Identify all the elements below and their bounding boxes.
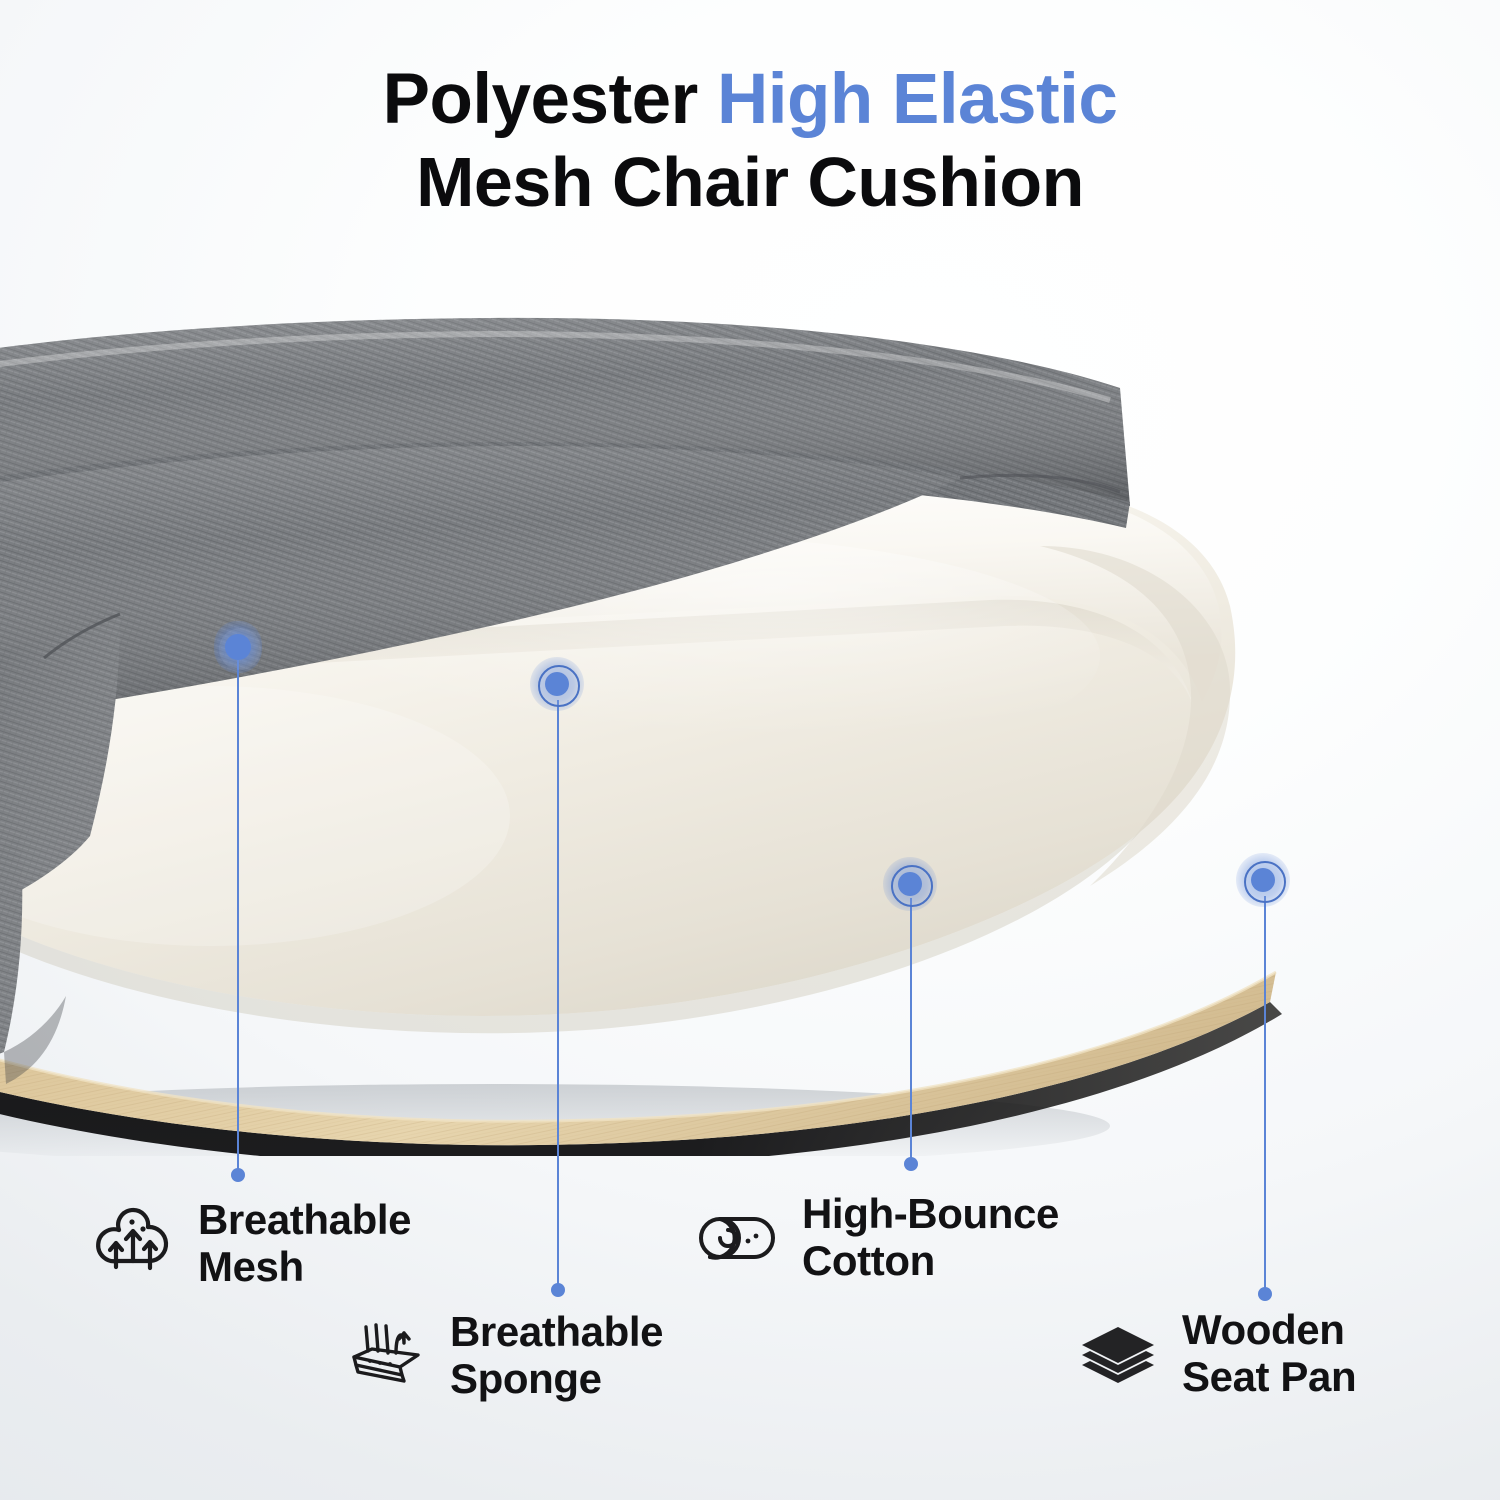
leader-end-dot: [1258, 1287, 1272, 1301]
leader-line-high-bounce-cotton: [910, 898, 912, 1164]
leader-line-breathable-mesh: [237, 660, 239, 1175]
title-accent-high-elastic: High Elastic: [717, 60, 1117, 139]
breathable-sponge-icon: [344, 1313, 428, 1397]
feature-label: High-Bounce Cotton: [802, 1190, 1059, 1284]
product-illustration: [0, 296, 1430, 1156]
marker-core: [225, 634, 251, 660]
feature-breathable-sponge[interactable]: Breathable Sponge: [344, 1308, 663, 1402]
feature-high-bounce-cotton[interactable]: High-Bounce Cotton: [696, 1190, 1059, 1284]
leader-end-dot: [551, 1283, 565, 1297]
feature-breathable-mesh[interactable]: Breathable Mesh: [92, 1196, 411, 1290]
breathable-mesh-icon: [92, 1201, 176, 1285]
high-bounce-cotton-icon: [696, 1195, 780, 1279]
title-line-1: Polyester High Elastic: [0, 62, 1500, 138]
title-line-2: Mesh Chair Cushion: [0, 145, 1500, 220]
wooden-seat-pan-icon: [1076, 1311, 1160, 1395]
title-part-polyester: Polyester: [383, 60, 717, 139]
feature-wooden-seat-pan[interactable]: Wooden Seat Pan: [1076, 1306, 1356, 1400]
feature-label: Wooden Seat Pan: [1182, 1306, 1356, 1400]
leader-line-breathable-sponge: [557, 700, 559, 1290]
marker-core: [898, 872, 922, 896]
marker-core: [1251, 868, 1275, 892]
leader-line-wooden-seat-pan: [1264, 896, 1266, 1294]
infographic-canvas: Polyester High Elastic Mesh Chair Cushio…: [0, 0, 1500, 1500]
leader-end-dot: [904, 1157, 918, 1171]
marker-core: [545, 672, 569, 696]
feature-label: Breathable Sponge: [450, 1308, 663, 1402]
page-title: Polyester High Elastic Mesh Chair Cushio…: [0, 62, 1500, 220]
feature-label: Breathable Mesh: [198, 1196, 411, 1290]
leader-end-dot: [231, 1168, 245, 1182]
